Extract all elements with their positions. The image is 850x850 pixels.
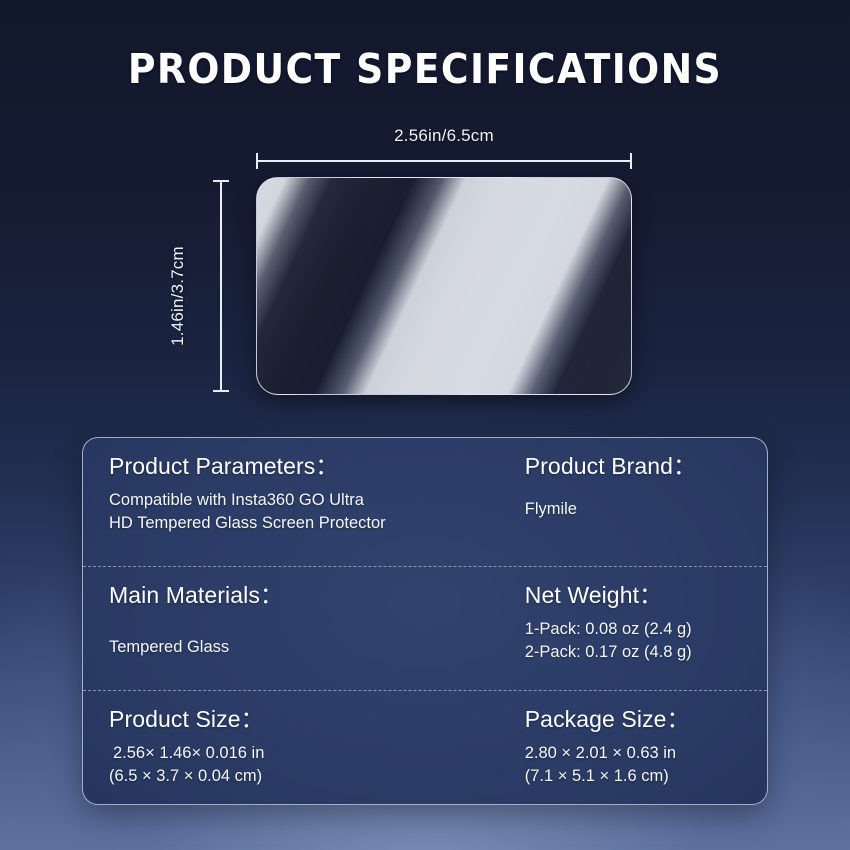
spec-value-line: 1-Pack: 0.08 oz (2.4 g) [525,618,767,641]
spec-label: Main Materials： [109,581,525,610]
spec-value-line: (7.1 × 5.1 × 1.6 cm) [525,765,767,788]
spec-value-line: 2-Pack: 0.17 oz (4.8 g) [525,641,767,664]
spec-label: Package Size： [525,705,767,734]
spec-label: Net Weight： [525,581,767,610]
spec-value-line: (6.5 × 3.7 × 0.04 cm) [109,765,525,788]
spec-row: Product Parameters： Compatible with Inst… [83,438,767,566]
product-figure: 2.56in/6.5cm 1.46in/3.7cm [0,0,850,430]
spec-cell-product-brand: Product Brand： Flymile [525,438,767,566]
specification-panel: Product Parameters： Compatible with Inst… [82,437,768,805]
spec-value-line: HD Tempered Glass Screen Protector [109,512,525,535]
spec-label: Product Brand： [525,452,767,481]
width-dimension-line [256,160,632,162]
spec-cell-main-materials: Main Materials： Tempered Glass [83,567,525,690]
spec-cell-package-size: Package Size： 2.80 × 2.01 × 0.63 in (7.1… [525,691,767,802]
spec-cell-product-size: Product Size： 2.56× 1.46× 0.016 in (6.5 … [83,691,525,802]
spec-label: Product Size： [109,705,525,734]
glass-reflection-overlay [257,178,631,394]
spec-value-line: Compatible with Insta360 GO Ultra [109,489,525,512]
height-dimension-line [220,180,222,392]
spec-cell-net-weight: Net Weight： 1-Pack: 0.08 oz (2.4 g) 2-Pa… [525,567,767,690]
height-dimension-label: 1.46in/3.7cm [168,190,188,402]
product-specification-page: PRODUCT SPECIFICATIONS 2.56in/6.5cm 1.46… [0,0,850,850]
spec-row: Product Size： 2.56× 1.46× 0.016 in (6.5 … [83,690,767,802]
width-dimension-label: 2.56in/6.5cm [256,126,632,146]
spec-value-line: Tempered Glass [109,636,525,659]
spec-cell-product-parameters: Product Parameters： Compatible with Inst… [83,438,525,566]
spec-value-line: 2.80 × 2.01 × 0.63 in [525,742,767,765]
spec-row: Main Materials： Tempered Glass Net Weigh… [83,566,767,690]
spec-value-line: 2.56× 1.46× 0.016 in [109,742,525,765]
tempered-glass-product-image [256,177,632,395]
spec-label: Product Parameters： [109,452,525,481]
spec-value-line: Flymile [525,498,767,521]
